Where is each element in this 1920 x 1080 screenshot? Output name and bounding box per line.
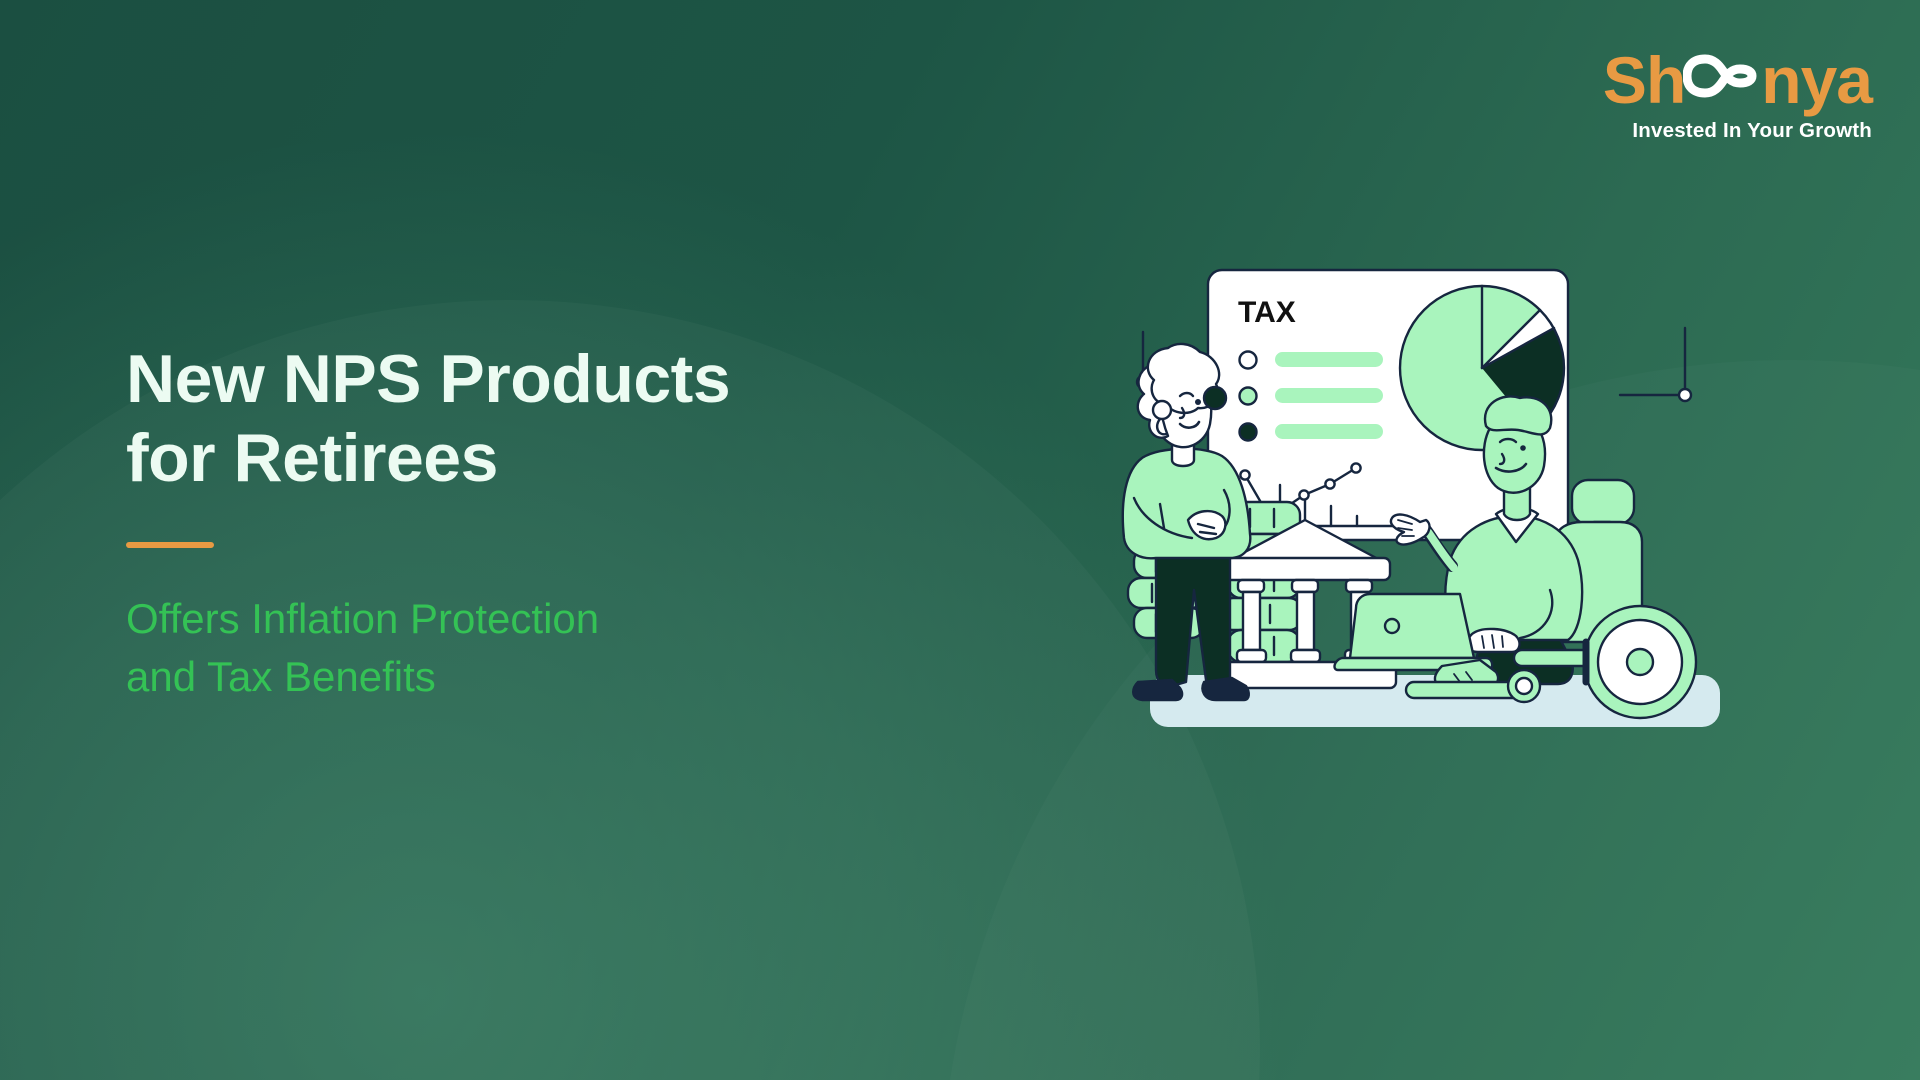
hero-copy-block: New NPS Products for Retirees Offers Inf…	[126, 340, 956, 706]
card-title: TAX	[1238, 296, 1296, 329]
infinity-icon	[1683, 48, 1763, 113]
checklist-marker-1	[1240, 352, 1257, 369]
page-subtitle: Offers Inflation Protection and Tax Bene…	[126, 590, 956, 706]
poster-canvas: Sh nya Invested In Your Growth New NPS P…	[0, 0, 1920, 1080]
checklist-bar-1	[1275, 352, 1383, 367]
page-title: New NPS Products for Retirees	[126, 340, 956, 498]
logo-tagline: Invested In Your Growth	[1603, 119, 1872, 143]
brand-logo[interactable]: Sh nya Invested In Your Growth	[1603, 48, 1872, 143]
logo-text-part1: Sh	[1603, 48, 1685, 113]
checklist-bar-3	[1275, 424, 1383, 439]
title-divider	[126, 542, 214, 548]
retirees-finance-illustration: TAX	[1120, 290, 1760, 770]
checklist-bar-2	[1275, 388, 1383, 403]
logo-wordmark: Sh nya	[1603, 48, 1872, 113]
checklist-marker-2	[1240, 388, 1257, 405]
logo-text-part2: nya	[1761, 48, 1872, 113]
corner-bracket-right	[1620, 328, 1691, 401]
checklist-marker-3	[1240, 424, 1257, 441]
